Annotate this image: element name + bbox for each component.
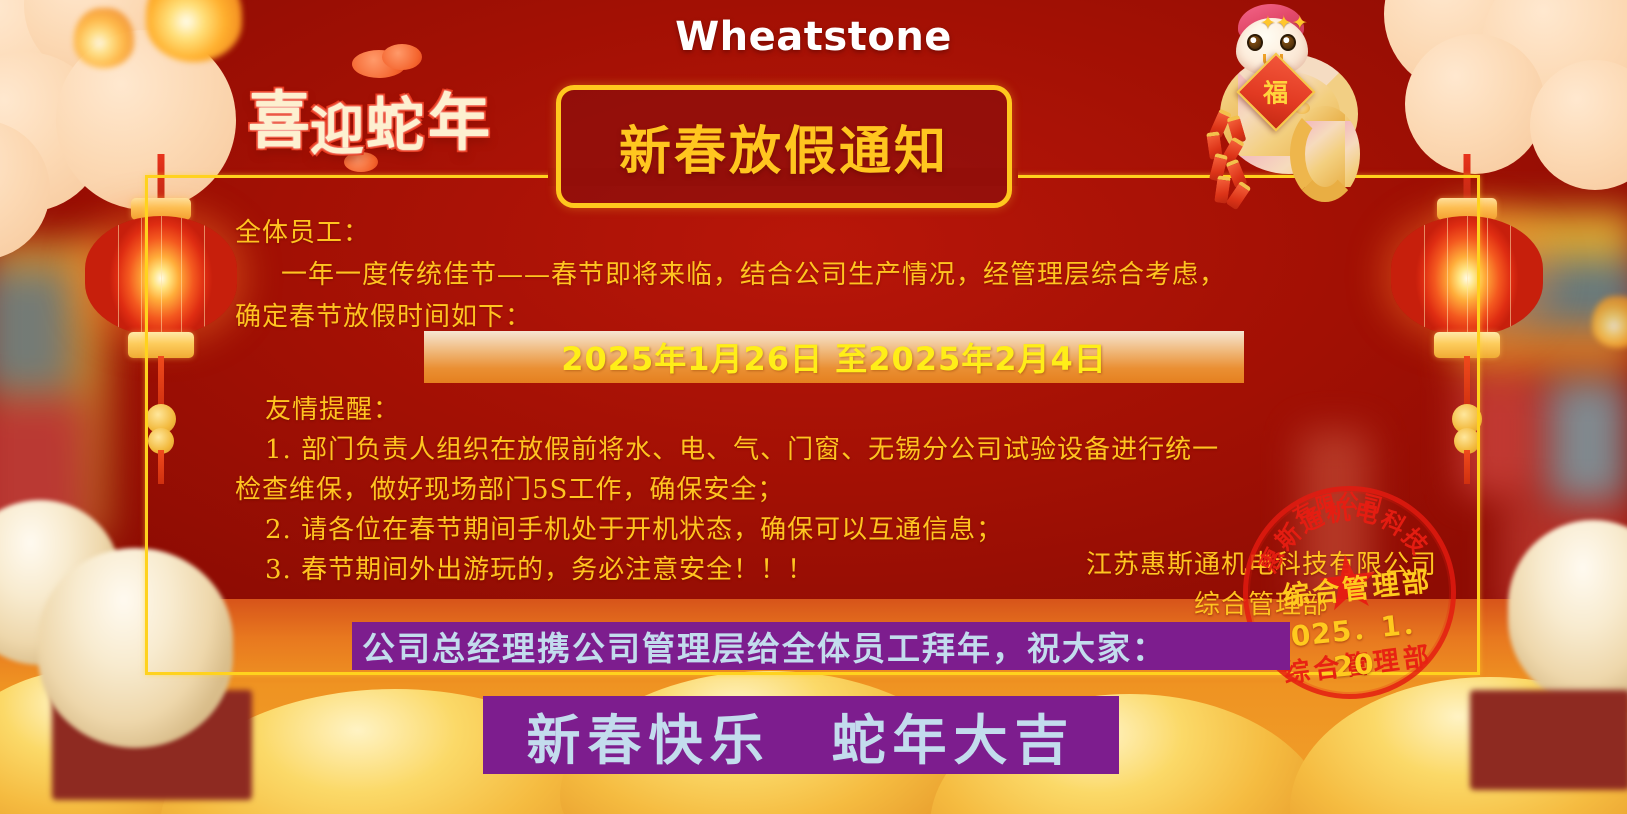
calligraphy-char: 喜	[248, 70, 310, 160]
reminder-item-1-line-2: 检查维保，做好现场部门5S工作，确保安全；	[235, 470, 1395, 510]
fu-charm-text: 福	[1263, 74, 1288, 110]
scene-panel	[0, 270, 70, 390]
salutation: 全体员工：	[235, 212, 1465, 254]
page-title: 新春放假通知	[619, 109, 949, 184]
calligraphy-char: 迎	[310, 86, 364, 165]
decorative-calligraphy: 喜 迎 蛇 年	[248, 48, 502, 178]
brand-name: Wheatstone	[0, 14, 1627, 60]
holiday-notice-poster: 喜 迎 蛇 年 ✦✦✦ 福 Wheatstone 新春放假通知	[0, 0, 1627, 814]
greeting-banner-bottom: 新春快乐 蛇年大吉	[483, 696, 1119, 774]
reminder-heading: 友情提醒：	[235, 390, 1395, 430]
glowing-sky-lantern	[1592, 296, 1627, 348]
holiday-date-text: 2025年1月26日 至2025年2月4日	[561, 334, 1107, 380]
drum-stand	[1470, 690, 1627, 790]
calligraphy-char: 年	[428, 72, 490, 162]
reminder-item-1-line-1: 1. 部门负责人组织在放假前将水、电、气、门窗、无锡分公司试验设备进行统一	[235, 430, 1395, 470]
greeting-banner-middle: 公司总经理携公司管理层给全体员工拜年，祝大家：	[352, 622, 1290, 670]
reminder-item-2: 2. 请各位在春节期间手机处于开机状态，确保可以互通信息；	[235, 510, 1395, 550]
calligraphy-char: 蛇	[366, 78, 424, 162]
poster-title-badge: 新春放假通知	[556, 85, 1012, 208]
notice-body: 全体员工： 一年一度传统佳节——春节即将来临，结合公司生产情况，经管理层综合考虑…	[235, 212, 1465, 338]
scene-panel	[1548, 380, 1627, 500]
body-line-1: 一年一度传统佳节——春节即将来临，结合公司生产情况，经管理层综合考虑，	[235, 254, 1465, 296]
holiday-date-banner: 2025年1月26日 至2025年2月4日	[424, 331, 1244, 383]
